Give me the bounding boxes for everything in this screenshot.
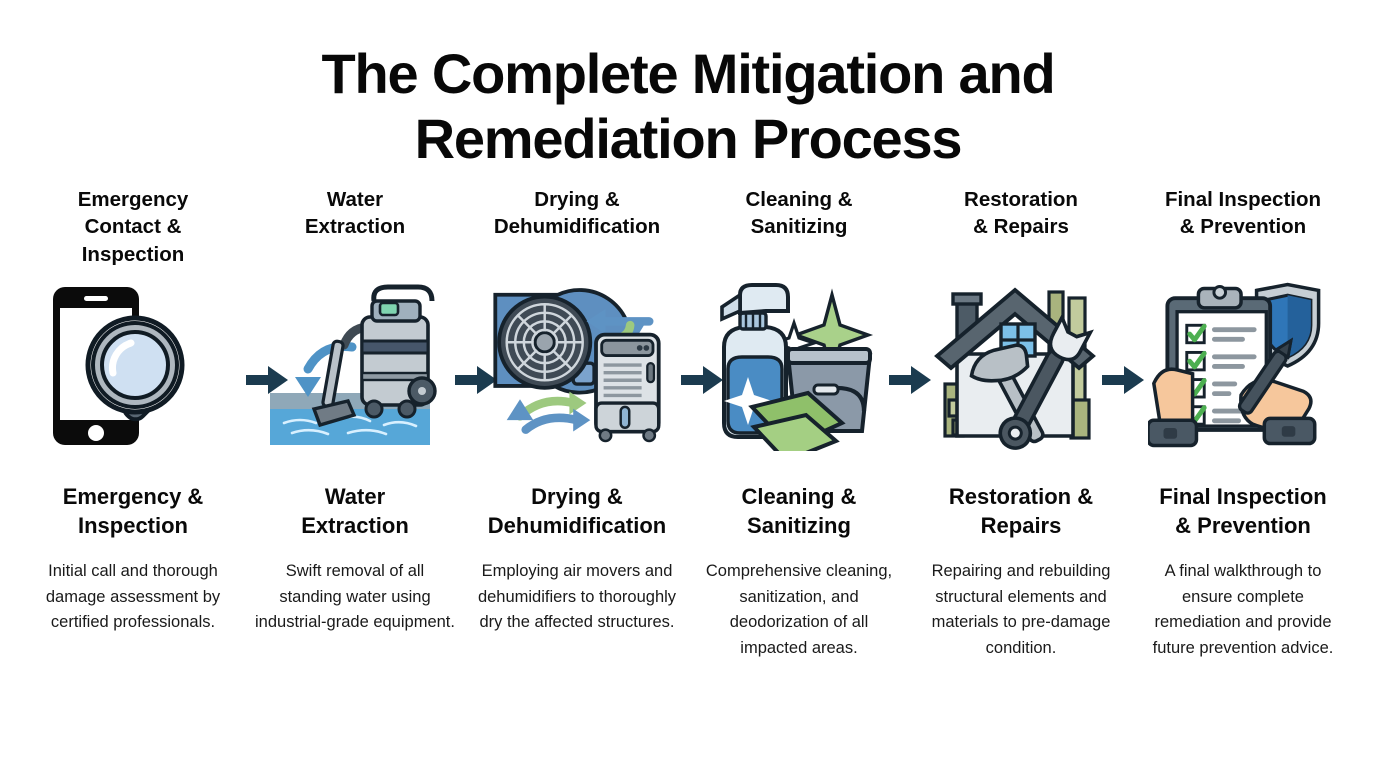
- step-4-top-label: Cleaning & Sanitizing: [745, 186, 852, 272]
- step-1-bottom-line-1: Emergency &: [63, 483, 204, 512]
- process-step-6[interactable]: Final Inspection & Prevention: [1134, 186, 1352, 661]
- title-line-2: Remediation Process: [198, 107, 1178, 172]
- process-step-3[interactable]: Drying & Dehumidification: [468, 186, 686, 636]
- step-1-top-line-2: Contact &: [78, 213, 189, 240]
- house-hammer-wrench-icon: [931, 280, 1111, 452]
- step-3-description: Employing air movers and dehumidifiers t…: [475, 559, 680, 636]
- step-3-bottom-line-1: Drying &: [488, 483, 666, 512]
- process-step-2[interactable]: Water Extraction: [246, 186, 464, 636]
- step-2-icon-box: [260, 278, 450, 453]
- step-5-bottom-line-2: Repairs: [949, 512, 1093, 541]
- step-2-top-line-2: Extraction: [305, 213, 405, 240]
- step-4-bottom-line-2: Sanitizing: [742, 512, 857, 541]
- step-2-top-line-1: Water: [305, 186, 405, 213]
- step-4-bottom-line-1: Cleaning &: [742, 483, 857, 512]
- step-3-top-line-1: Drying &: [494, 186, 660, 213]
- step-3-icon-box: [482, 278, 672, 453]
- step-1-description: Initial call and thorough damage assessm…: [31, 559, 236, 636]
- step-1-top-line-3: Inspection: [78, 241, 189, 268]
- title-line-1: The Complete Mitigation and: [322, 42, 1055, 105]
- step-5-top-line-1: Restoration: [964, 186, 1078, 213]
- process-steps: Emergency Contact & Inspection: [24, 186, 1352, 661]
- step-2-description: Swift removal of all standing water usin…: [253, 559, 458, 636]
- step-4-top-line-1: Cleaning &: [745, 186, 852, 213]
- step-5-top-label: Restoration & Repairs: [964, 186, 1078, 272]
- step-3-top-label: Drying & Dehumidification: [494, 186, 660, 272]
- step-5-bottom-label: Restoration & Repairs: [949, 483, 1093, 547]
- step-5-top-line-2: & Repairs: [964, 213, 1078, 240]
- step-1-bottom-line-2: Inspection: [63, 512, 204, 541]
- step-5-description: Repairing and rebuilding structural elem…: [919, 559, 1124, 661]
- step-4-top-line-2: Sanitizing: [745, 213, 852, 240]
- process-step-5[interactable]: Restoration & Repairs: [912, 186, 1130, 661]
- step-2-bottom-label: Water Extraction: [301, 483, 409, 547]
- step-1-icon-box: [38, 278, 228, 453]
- step-4-icon-box: [704, 278, 894, 453]
- step-4-bottom-label: Cleaning & Sanitizing: [742, 483, 857, 547]
- spray-bottle-bucket-cloth-icon: [714, 281, 884, 451]
- process-step-4[interactable]: Cleaning & Sanitizing: [690, 186, 908, 661]
- step-6-icon-box: [1148, 278, 1338, 453]
- step-4-description: Comprehensive cleaning, sanitization, an…: [697, 559, 902, 661]
- step-3-bottom-line-2: Dehumidification: [488, 512, 666, 541]
- page-title: The Complete Mitigation and Remediation …: [198, 0, 1178, 172]
- step-1-top-label: Emergency Contact & Inspection: [78, 186, 189, 272]
- clipboard-checklist-shield-icon: [1148, 280, 1338, 452]
- step-1-top-line-1: Emergency: [78, 186, 189, 213]
- step-5-bottom-line-1: Restoration &: [949, 483, 1093, 512]
- step-6-top-label: Final Inspection & Prevention: [1165, 186, 1321, 272]
- step-6-bottom-label: Final Inspection & Prevention: [1159, 483, 1326, 547]
- step-6-description: A final walkthrough to ensure complete r…: [1141, 559, 1346, 661]
- infographic-page: The Complete Mitigation and Remediation …: [0, 0, 1376, 768]
- step-2-bottom-line-1: Water: [301, 483, 409, 512]
- step-1-bottom-label: Emergency & Inspection: [63, 483, 204, 547]
- process-step-1[interactable]: Emergency Contact & Inspection: [24, 186, 242, 636]
- air-mover-dehumidifier-icon: [482, 281, 672, 451]
- wet-vacuum-icon: [262, 281, 448, 451]
- step-2-top-label: Water Extraction: [305, 186, 405, 272]
- step-3-top-line-2: Dehumidification: [494, 213, 660, 240]
- step-6-top-line-2: & Prevention: [1165, 213, 1321, 240]
- step-2-bottom-line-2: Extraction: [301, 512, 409, 541]
- step-6-bottom-line-1: Final Inspection: [1159, 483, 1326, 512]
- step-3-bottom-label: Drying & Dehumidification: [488, 483, 666, 547]
- step-6-top-line-1: Final Inspection: [1165, 186, 1321, 213]
- step-5-icon-box: [926, 278, 1116, 453]
- step-6-bottom-line-2: & Prevention: [1159, 512, 1326, 541]
- phone-magnifier-icon: [43, 281, 223, 451]
